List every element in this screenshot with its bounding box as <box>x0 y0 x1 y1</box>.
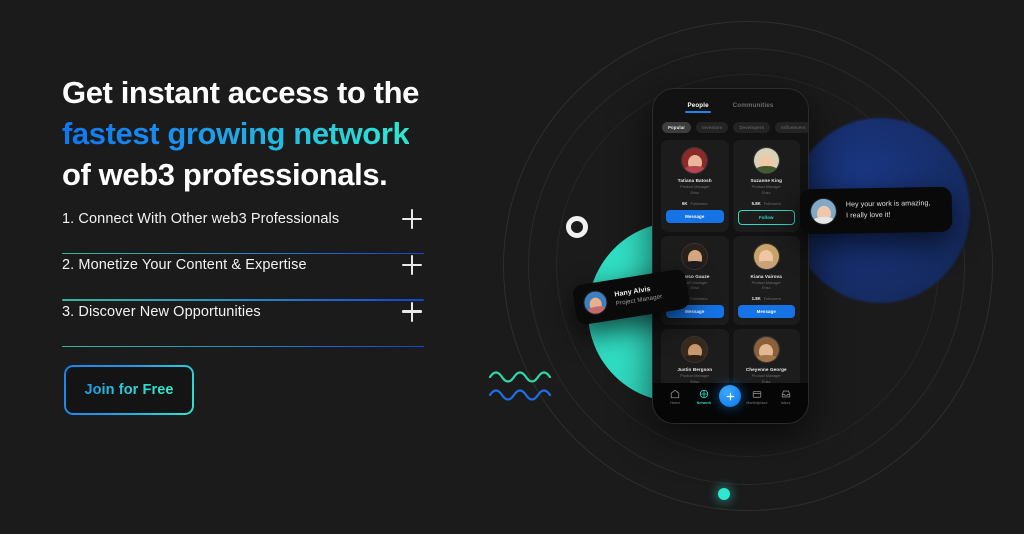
filter-chip-row: Popular Investors Developers Influencers <box>653 113 808 133</box>
join-for-free-button[interactable]: Join for Free <box>64 365 194 415</box>
message-text: Hey your work is amazing, I really love … <box>846 199 931 222</box>
message-line-2: I really love it! <box>846 210 931 222</box>
plus-icon[interactable] <box>402 302 422 322</box>
avatar <box>681 243 708 270</box>
home-icon <box>670 389 680 399</box>
divider <box>62 346 424 347</box>
person-company: Erisx <box>762 191 770 197</box>
nav-label: Marketplace <box>746 401 767 405</box>
nav-label: Network <box>697 401 712 405</box>
nav-item-network[interactable]: Network <box>691 389 717 405</box>
follower-count: 6K <box>682 201 688 206</box>
follower-label: Followers <box>690 296 707 301</box>
follow-button[interactable]: Follow <box>738 210 796 225</box>
tab-communities[interactable]: Communities <box>733 102 774 113</box>
avatar <box>753 243 780 270</box>
person-name: Suzanne King <box>750 178 782 183</box>
follower-label: Followers <box>764 296 781 301</box>
person-name: Tatiana Batosh <box>678 178 712 183</box>
person-card[interactable]: Tatiana Batosh Product Manager Erisx 6K … <box>661 140 729 231</box>
nav-item-inbox[interactable]: Inbox <box>773 389 799 405</box>
network-icon <box>699 389 709 399</box>
person-name: Justin Bergson <box>677 367 712 372</box>
feature-accordion-item[interactable]: 2. Monetize Your Content & Expertise <box>62 254 424 300</box>
headline-line-3: of web3 professionals. <box>62 157 387 192</box>
create-post-fab[interactable] <box>719 385 741 407</box>
person-company: Erisx <box>691 286 699 292</box>
nav-item-home[interactable]: Home <box>662 389 688 405</box>
nav-item-marketplace[interactable]: Marketplace <box>744 389 770 405</box>
message-button[interactable]: Message <box>738 305 796 318</box>
follower-count: 1.8K <box>752 296 761 301</box>
plus-icon[interactable] <box>402 255 422 275</box>
join-for-free-label: Join for Free <box>84 382 173 398</box>
avatar <box>753 147 780 174</box>
avatar <box>753 336 780 363</box>
plus-icon <box>725 391 736 402</box>
follower-label: Followers <box>764 201 781 206</box>
nav-label: Home <box>670 401 680 405</box>
avatar <box>810 198 837 225</box>
inbox-icon <box>781 389 791 399</box>
message-line-1: Hey your work is amazing, <box>846 199 931 211</box>
feature-accordion-item[interactable]: 3. Discover New Opportunities <box>62 301 424 347</box>
avatar <box>681 147 708 174</box>
wave-lines-decoration <box>488 365 568 410</box>
feature-accordion-list: 1. Connect With Other web3 Professionals… <box>62 208 424 347</box>
phone-mockup: People Communities Popular Investors Dev… <box>652 88 809 424</box>
people-card-grid: Tatiana Batosh Product Manager Erisx 6K … <box>653 133 808 392</box>
nav-label: Inbox <box>781 401 791 405</box>
person-company: Erisx <box>762 286 770 292</box>
follower-label: Followers <box>690 201 707 206</box>
tab-people[interactable]: People <box>687 102 708 113</box>
cta-container: Join for Free <box>64 365 194 415</box>
feature-label: 3. Discover New Opportunities <box>62 304 261 321</box>
avatar <box>681 336 708 363</box>
white-ring-accent <box>566 216 588 238</box>
headline-gradient-line: fastest growing network <box>62 113 409 154</box>
floating-message-card[interactable]: Hey your work is amazing, I really love … <box>800 187 953 235</box>
headline-line-1: Get instant access to the <box>62 75 419 110</box>
marketplace-icon <box>752 389 762 399</box>
chip-developers[interactable]: Developers <box>733 122 770 133</box>
person-card[interactable]: Suzanne King Product Manager Erisx 5.8K … <box>733 140 801 231</box>
chip-popular[interactable]: Popular <box>662 122 691 133</box>
person-name: Kiana Vairova <box>751 274 782 279</box>
chip-influencers[interactable]: Influencers <box>775 122 809 133</box>
person-company: Erisx <box>691 191 699 197</box>
headline-block: Get instant access to the fastest growin… <box>62 72 462 196</box>
person-card[interactable]: Kiana Vairova Product Manager Erisx 1.8K… <box>733 236 801 325</box>
feature-label: 2. Monetize Your Content & Expertise <box>62 257 307 274</box>
hero-illustration: People Communities Popular Investors Dev… <box>470 0 1024 534</box>
avatar <box>582 289 609 316</box>
feature-accordion-item[interactable]: 1. Connect With Other web3 Professionals <box>62 208 424 254</box>
person-name: Cheyenne George <box>746 367 787 372</box>
page-title: Get instant access to the fastest growin… <box>62 72 462 196</box>
bottom-navigation-bar: Home Network Marke <box>653 383 808 423</box>
message-button[interactable]: Message <box>666 210 724 223</box>
teal-dot-accent <box>718 488 730 500</box>
follower-count: 5.8K <box>752 201 761 206</box>
feature-label: 1. Connect With Other web3 Professionals <box>62 211 339 228</box>
chip-investors[interactable]: Investors <box>696 122 728 133</box>
plus-icon[interactable] <box>402 209 422 229</box>
hero-section: Get instant access to the fastest growin… <box>0 0 1024 534</box>
phone-tab-bar: People Communities <box>653 89 808 113</box>
